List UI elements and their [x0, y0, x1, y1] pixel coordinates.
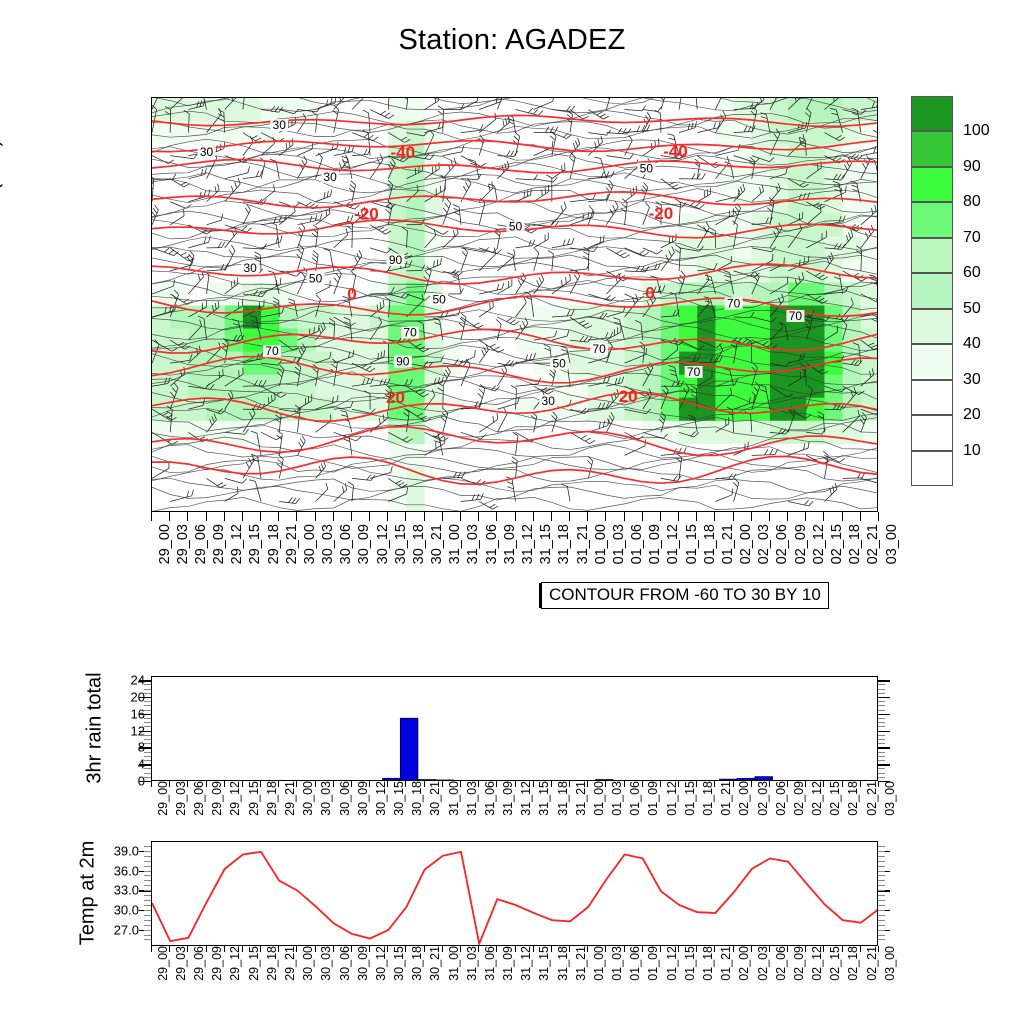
time-tick	[278, 946, 279, 952]
time-tick	[714, 946, 715, 952]
time-tick	[624, 781, 625, 787]
temp-minor-tick	[144, 905, 151, 906]
temp-minor-tick	[144, 861, 151, 862]
time-tick-label: 02_06	[774, 946, 788, 981]
time-tick	[496, 512, 497, 521]
time-tick	[187, 946, 188, 952]
time-tick-label: 29_09	[210, 946, 224, 981]
time-tick-label: 30_12	[375, 524, 391, 564]
svg-text:30: 30	[273, 118, 287, 132]
temp-minor-tick	[144, 846, 151, 847]
rain-minor-tick	[144, 701, 151, 702]
time-tick-label: 31_12	[520, 524, 536, 564]
time-tick	[696, 781, 697, 787]
time-tick-label: 29_18	[265, 946, 279, 981]
time-tick	[878, 946, 879, 952]
time-tick	[151, 781, 152, 787]
time-tick	[860, 946, 861, 952]
time-tick-label: 01_15	[683, 781, 697, 816]
temp-minor-tick	[144, 920, 151, 921]
time-tick	[496, 781, 497, 787]
time-tick-label: 30_03	[319, 781, 333, 816]
rain-minor-tick	[878, 710, 885, 711]
time-tick	[296, 781, 297, 787]
temp-minor-tick	[878, 861, 885, 862]
time-tick-label: 31_00	[447, 781, 461, 816]
time-tick-label: 30_18	[410, 781, 424, 816]
time-tick	[533, 512, 534, 521]
time-tick-label: 02_12	[811, 524, 827, 564]
time-tick-label: 30_21	[428, 781, 442, 816]
time-tick	[605, 781, 606, 787]
rain-minor-tick	[144, 756, 151, 757]
time-tick-label: 02_21	[865, 781, 879, 816]
rain-minor-tick	[878, 722, 885, 723]
time-tick-label: 02_12	[810, 946, 824, 981]
time-tick	[333, 512, 334, 521]
time-tick-label: 31_15	[538, 524, 554, 564]
rain-major-tick	[878, 731, 890, 732]
time-tick-label: 29_15	[247, 946, 261, 981]
time-tick	[515, 946, 516, 952]
time-tick-label: 01_09	[647, 524, 663, 564]
rain-minor-tick	[144, 689, 151, 690]
time-tick-label: 01_00	[592, 781, 606, 816]
time-tick	[587, 946, 588, 952]
colorbar-label: 100	[963, 122, 990, 140]
rain-panel[interactable]: 04812162024	[151, 676, 878, 781]
time-tick	[878, 512, 879, 521]
time-tick-label: 29_00	[156, 946, 170, 981]
time-tick	[751, 781, 752, 787]
colorbar-cell[interactable]	[911, 344, 953, 379]
time-tick-label: 29_06	[193, 524, 209, 564]
temp-minor-tick	[878, 925, 885, 926]
humidity-colorbar[interactable]: 100908070605040302010	[911, 96, 953, 486]
time-tick	[642, 781, 643, 787]
time-tick	[460, 781, 461, 787]
temp-minor-tick	[878, 905, 885, 906]
svg-text:70: 70	[727, 297, 741, 311]
rain-minor-tick	[144, 718, 151, 719]
colorbar-cell[interactable]	[911, 415, 953, 450]
colorbar-label: 60	[963, 264, 981, 282]
rain-plot-frame	[151, 676, 878, 781]
time-tick	[733, 781, 734, 787]
rain-major-tick	[878, 747, 890, 748]
rain-minor-tick	[878, 726, 885, 727]
time-tick	[533, 781, 534, 787]
time-tick	[587, 512, 588, 521]
temp-minor-tick	[878, 915, 885, 916]
time-tick	[369, 781, 370, 787]
time-tick	[787, 946, 788, 952]
rain-major-tick	[139, 764, 151, 765]
colorbar-cell[interactable]	[911, 451, 953, 486]
time-tick-label: 02_00	[737, 946, 751, 981]
rain-tick-label: 4	[85, 757, 145, 772]
time-tick-label: 31_12	[519, 946, 533, 981]
time-tick-label: 31_06	[483, 781, 497, 816]
colorbar-label: 70	[963, 229, 981, 247]
rain-minor-tick	[878, 701, 885, 702]
time-tick	[714, 781, 715, 787]
time-tick	[842, 512, 843, 521]
time-tick-label: 29_21	[283, 781, 297, 816]
time-tick-label: 02_09	[792, 946, 806, 981]
time-tick	[169, 512, 170, 521]
time-tick-label: 29_09	[211, 524, 227, 564]
time-tick	[333, 781, 334, 787]
time-tick-label: 29_00	[157, 524, 173, 564]
contour-note: CONTOUR FROM -60 TO 30 BY 10	[541, 582, 829, 609]
time-tick	[587, 781, 588, 787]
time-tick	[733, 512, 734, 521]
time-tick	[696, 946, 697, 952]
rain-major-tick	[878, 680, 890, 681]
time-tick-label: 29_00	[156, 781, 170, 816]
colorbar-label: 40	[963, 335, 981, 353]
rain-minor-tick	[144, 752, 151, 753]
temp-minor-tick	[878, 895, 885, 896]
time-tick	[315, 781, 316, 787]
time-tick	[660, 781, 661, 787]
sounding-dashboard: Station: AGADEZ 150200250300350400450500…	[0, 0, 1024, 1024]
svg-text:50: 50	[552, 357, 566, 371]
time-tick	[151, 512, 152, 521]
svg-text:-40: -40	[391, 143, 416, 162]
rain-minor-tick	[144, 743, 151, 744]
time-tick	[260, 946, 261, 952]
time-tick	[751, 512, 752, 521]
colorbar-cell[interactable]	[911, 380, 953, 415]
time-tick-label: 30_03	[320, 524, 336, 564]
time-tick	[642, 512, 643, 521]
time-tick	[442, 781, 443, 787]
time-tick	[405, 781, 406, 787]
time-tick-label: 30_15	[392, 781, 406, 816]
time-tick-label: 02_12	[810, 781, 824, 816]
time-tick	[515, 781, 516, 787]
time-tick-label: 29_09	[210, 781, 224, 816]
temp-tick-label: 36.0	[79, 863, 139, 878]
svg-text:90: 90	[389, 253, 403, 267]
page-title: Station: AGADEZ	[0, 24, 1024, 57]
rain-minor-tick	[144, 739, 151, 740]
rain-major-tick	[139, 714, 151, 715]
colorbar-cell[interactable]	[911, 273, 953, 308]
rain-minor-tick	[878, 777, 885, 778]
time-tick	[769, 512, 770, 521]
time-tick	[842, 946, 843, 952]
time-tick-label: 29_15	[247, 781, 261, 816]
temp-minor-tick	[878, 880, 885, 881]
time-tick-label: 29_18	[266, 524, 282, 564]
time-tick	[387, 946, 388, 952]
time-tick-label: 29_18	[265, 781, 279, 816]
time-tick-label: 29_06	[192, 946, 206, 981]
time-tick	[823, 512, 824, 521]
time-tick	[805, 781, 806, 787]
temp-minor-tick	[144, 851, 151, 852]
time-tick	[351, 946, 352, 952]
time-tick	[296, 512, 297, 521]
time-tick	[551, 946, 552, 952]
time-tick-label: 31_09	[501, 781, 515, 816]
colorbar-cell[interactable]	[911, 202, 953, 237]
temp-minor-tick	[878, 930, 885, 931]
colorbar-label: 80	[963, 193, 981, 211]
rain-minor-tick	[878, 739, 885, 740]
temp-minor-tick	[144, 910, 151, 911]
rain-major-tick	[139, 680, 151, 681]
time-tick	[678, 946, 679, 952]
time-tick	[624, 512, 625, 521]
time-tick-label: 31_03	[465, 946, 479, 981]
time-tick	[460, 946, 461, 952]
time-tick	[260, 512, 261, 521]
colorbar-label: 30	[963, 371, 981, 389]
time-tick	[478, 946, 479, 952]
time-tick-label: 02_00	[737, 781, 751, 816]
time-tick-label: 30_09	[356, 946, 370, 981]
svg-text:70: 70	[265, 344, 279, 358]
time-tick-label: 30_18	[410, 946, 424, 981]
time-tick-label: 31_09	[502, 524, 518, 564]
rain-minor-tick	[878, 756, 885, 757]
time-tick	[769, 781, 770, 787]
temp-minor-tick	[144, 915, 151, 916]
time-tick-label: 02_15	[828, 946, 842, 981]
time-tick-label: 01_21	[719, 946, 733, 981]
time-tick-label: 02_03	[756, 781, 770, 816]
time-tick-label: 01_21	[719, 781, 733, 816]
time-tick-label: 31_18	[556, 946, 570, 981]
time-tick	[733, 946, 734, 952]
svg-text:70: 70	[789, 309, 803, 323]
time-tick	[224, 946, 225, 952]
time-tick	[569, 946, 570, 952]
time-tick-label: 31_00	[447, 946, 461, 981]
time-tick	[369, 512, 370, 521]
rain-minor-tick	[144, 722, 151, 723]
rain-minor-tick	[878, 743, 885, 744]
time-tick-label: 01_03	[610, 781, 624, 816]
rain-tick-label: 0	[85, 774, 145, 789]
colorbar-cell[interactable]	[911, 309, 953, 344]
time-tick	[424, 512, 425, 521]
colorbar-cell[interactable]	[911, 238, 953, 273]
temp-minor-tick	[144, 895, 151, 896]
rain-minor-tick	[144, 760, 151, 761]
time-tick	[805, 512, 806, 521]
rain-minor-tick	[878, 693, 885, 694]
rain-minor-tick	[144, 735, 151, 736]
rain-minor-tick	[878, 768, 885, 769]
temp-minor-tick	[878, 935, 885, 936]
time-tick	[187, 512, 188, 521]
time-tick-label: 30_21	[429, 524, 445, 564]
time-tick-label: 30_12	[374, 781, 388, 816]
temp-minor-tick	[144, 935, 151, 936]
time-tick-label: 30_15	[392, 946, 406, 981]
time-tick-label: 01_00	[593, 524, 609, 564]
time-tick	[424, 946, 425, 952]
time-tick	[678, 512, 679, 521]
temp-tick-label: 27.0	[79, 922, 139, 937]
temp-minor-tick	[878, 920, 885, 921]
time-tick-label: 01_06	[629, 524, 645, 564]
time-tick-label: 29_12	[228, 946, 242, 981]
time-tick-label: 03_00	[883, 946, 897, 981]
rain-tick-label: 12	[85, 723, 145, 738]
time-tick-label: 02_09	[793, 524, 809, 564]
time-tick	[351, 512, 352, 521]
temp-minor-tick	[878, 871, 885, 872]
svg-text:-40: -40	[663, 142, 688, 161]
time-tick	[169, 781, 170, 787]
time-tick-label: 29_15	[247, 524, 263, 564]
time-tick	[351, 781, 352, 787]
time-tick	[260, 781, 261, 787]
time-tick-label: 01_12	[665, 524, 681, 564]
time-tick-label: 02_06	[774, 781, 788, 816]
rain-major-tick	[878, 697, 890, 698]
temp-tick-label: 39.0	[79, 843, 139, 858]
time-tick	[787, 781, 788, 787]
time-tick	[478, 781, 479, 787]
rain-tick-label: 24	[85, 673, 145, 688]
time-tick-label: 30_00	[302, 524, 318, 564]
rain-minor-tick	[144, 684, 151, 685]
time-tick	[696, 512, 697, 521]
svg-text:30: 30	[542, 394, 556, 408]
svg-text:30: 30	[200, 145, 214, 159]
time-tick-label: 02_15	[828, 781, 842, 816]
rain-minor-tick	[144, 705, 151, 706]
time-tick	[315, 946, 316, 952]
sounding-panel[interactable]: -40-40-20-200020203030303050505050707090…	[151, 97, 878, 512]
time-tick	[551, 512, 552, 521]
temp-panel[interactable]: 27.030.033.036.039.0	[151, 841, 878, 946]
time-tick	[842, 781, 843, 787]
temp-minor-tick	[144, 900, 151, 901]
time-tick	[878, 781, 879, 787]
time-tick-label: 31_18	[556, 781, 570, 816]
time-tick-label: 31_12	[519, 781, 533, 816]
colorbar-cell[interactable]	[911, 96, 953, 131]
time-tick-label: 29_03	[175, 524, 191, 564]
time-tick	[515, 512, 516, 521]
temp-minor-tick	[878, 851, 885, 852]
time-tick-label: 29_21	[284, 524, 300, 564]
rain-minor-tick	[144, 773, 151, 774]
temp-minor-tick	[878, 885, 885, 886]
time-tick-label: 30_00	[301, 781, 315, 816]
rain-minor-tick	[144, 777, 151, 778]
time-tick-label: 01_00	[592, 946, 606, 981]
svg-text:20: 20	[386, 388, 405, 407]
time-tick	[224, 512, 225, 521]
time-tick	[206, 512, 207, 521]
time-tick-label: 01_21	[720, 524, 736, 564]
rain-minor-tick	[878, 684, 885, 685]
time-tick-label: 29_06	[192, 781, 206, 816]
time-tick-label: 02_09	[792, 781, 806, 816]
time-tick-label: 01_09	[646, 946, 660, 981]
time-tick-label: 03_00	[883, 781, 897, 816]
colorbar-label: 20	[963, 406, 981, 424]
time-tick	[823, 781, 824, 787]
temp-plot-frame	[151, 841, 878, 946]
time-tick	[296, 946, 297, 952]
svg-text:50: 50	[432, 292, 446, 306]
temp-minor-tick	[878, 939, 885, 940]
time-tick	[714, 512, 715, 521]
time-tick-label: 30_09	[356, 781, 370, 816]
time-tick-label: 31_00	[447, 524, 463, 564]
time-tick	[569, 512, 570, 521]
rain-minor-tick	[144, 693, 151, 694]
rain-major-tick	[878, 714, 890, 715]
colorbar-cell[interactable]	[911, 131, 953, 166]
time-tick-label: 29_03	[174, 781, 188, 816]
temp-minor-tick	[144, 939, 151, 940]
time-tick	[315, 512, 316, 521]
time-tick-label: 29_12	[229, 524, 245, 564]
time-tick-label: 01_09	[646, 781, 660, 816]
rain-tick-label: 20	[85, 690, 145, 705]
time-tick	[206, 781, 207, 787]
svg-text:0: 0	[645, 283, 654, 302]
time-tick-label: 01_15	[683, 946, 697, 981]
time-tick-label: 02_03	[756, 524, 772, 564]
colorbar-cell[interactable]	[911, 167, 953, 202]
time-tick-label: 29_12	[228, 781, 242, 816]
time-tick-label: 31_03	[465, 781, 479, 816]
time-tick-label: 02_15	[829, 524, 845, 564]
time-tick	[660, 946, 661, 952]
svg-text:70: 70	[687, 365, 701, 379]
time-tick-label: 01_06	[628, 781, 642, 816]
time-tick	[478, 512, 479, 521]
svg-text:70: 70	[403, 326, 417, 340]
temp-minor-tick	[878, 875, 885, 876]
time-tick-label: 01_06	[628, 946, 642, 981]
time-tick-label: 30_21	[428, 946, 442, 981]
time-tick	[224, 781, 225, 787]
time-tick-label: 31_21	[575, 524, 591, 564]
time-tick	[442, 946, 443, 952]
time-tick-label: 02_00	[738, 524, 754, 564]
rain-bars	[152, 677, 878, 781]
temp-minor-tick	[144, 871, 151, 872]
rain-major-tick	[139, 731, 151, 732]
time-tick-label: 02_03	[756, 946, 770, 981]
svg-text:-20: -20	[354, 205, 379, 224]
rain-minor-tick	[144, 768, 151, 769]
time-tick	[369, 946, 370, 952]
rain-minor-tick	[144, 726, 151, 727]
svg-text:0: 0	[347, 284, 356, 303]
time-tick-label: 01_15	[684, 524, 700, 564]
time-tick-label: 31_06	[483, 946, 497, 981]
time-tick	[660, 512, 661, 521]
temp-minor-tick	[878, 866, 885, 867]
time-tick	[424, 781, 425, 787]
time-tick	[169, 946, 170, 952]
svg-text:90: 90	[396, 355, 410, 369]
